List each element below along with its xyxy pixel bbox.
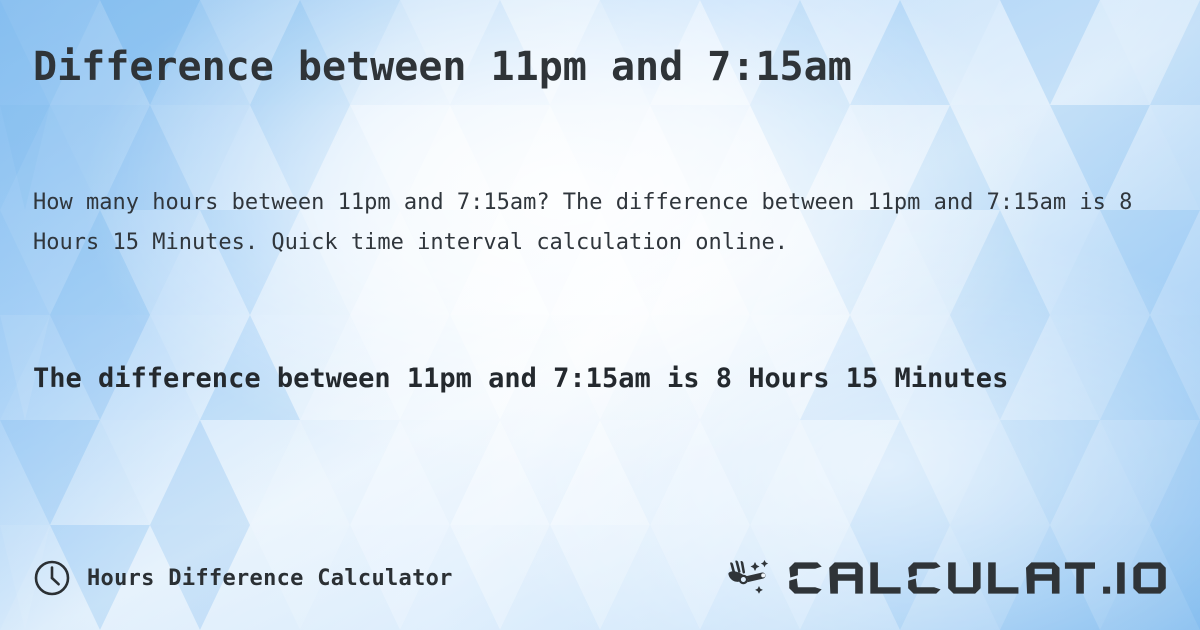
footer: Hours Difference Calculator (33, 553, 1167, 603)
card-content: Difference between 11pm and 7:15am How m… (0, 0, 1200, 630)
clock-icon (33, 559, 71, 597)
logo-wordmark-suffix (1102, 558, 1167, 598)
footer-tool-label: Hours Difference Calculator (87, 566, 453, 591)
magic-wand-hand-icon (723, 556, 779, 600)
site-logo[interactable]: CALCULAT.IO (723, 556, 1167, 600)
intro-description: How many hours between 11pm and 7:15am? … (33, 183, 1153, 263)
page-title: Difference between 11pm and 7:15am (33, 41, 852, 93)
footer-tool-brand: Hours Difference Calculator (33, 559, 453, 597)
result-heading: The difference between 11pm and 7:15am i… (33, 355, 1093, 402)
og-card: Difference between 11pm and 7:15am How m… (0, 0, 1200, 630)
logo-wordmark: CALCULAT.IO (786, 558, 1095, 598)
